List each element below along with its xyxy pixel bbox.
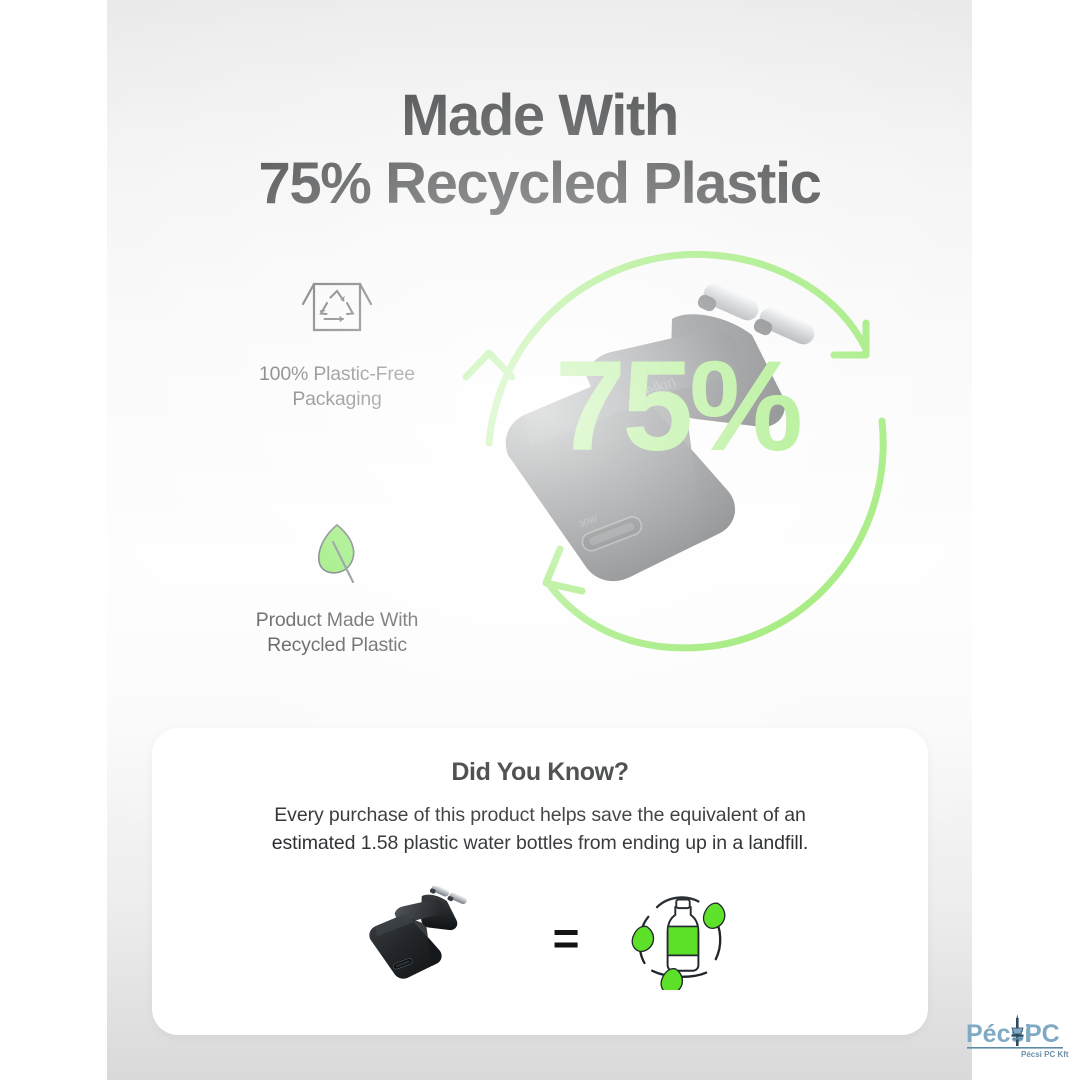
screenshot-root: Made With 75% Recycled Plastic — [0, 0, 1080, 1080]
did-you-know-card: Did You Know? Every purchase of this pro… — [152, 728, 928, 1035]
green-leaf-icon — [192, 516, 482, 594]
recycle-box-icon — [192, 270, 482, 348]
feature-label: 100% Plastic-Free Packaging — [192, 362, 482, 412]
equivalence-equation: = — [152, 878, 928, 998]
feature-item-recycled-plastic-product: Product Made With Recycled Plastic — [192, 516, 482, 658]
title-line-1: Made With — [107, 85, 972, 147]
feature-item-plastic-free-packaging: 100% Plastic-Free Packaging — [192, 270, 482, 412]
pecsipc-logo: Pécsi PC Pécsi PC Kft. — [965, 1012, 1069, 1066]
product-infographic: Made With 75% Recycled Plastic — [107, 0, 972, 1080]
card-body-line-1: Every purchase of this product helps sav… — [274, 804, 805, 826]
card-title: Did You Know? — [152, 758, 928, 787]
recycled-bottle-icon — [625, 886, 741, 990]
feature-label: Product Made With Recycled Plastic — [192, 608, 482, 658]
page-title: Made With 75% Recycled Plastic — [107, 85, 972, 215]
logo-word-2: PC — [1025, 1020, 1060, 1048]
feature-label-line-1: Product Made With — [256, 609, 418, 631]
feature-label-line-2: Recycled Plastic — [267, 634, 407, 656]
percent-overlay-label: 75% — [442, 343, 912, 471]
card-body-text: Every purchase of this product helps sav… — [220, 802, 860, 857]
hero-product-graphic: belkin 30W 75% — [442, 225, 912, 680]
equals-sign: = — [553, 915, 580, 961]
logo-word-1: Pécsi — [966, 1020, 1031, 1048]
feature-label-line-2: Packaging — [292, 388, 381, 410]
feature-list: 100% Plastic-Free Packaging Product Made… — [192, 270, 482, 658]
feature-label-line-1: 100% Plastic-Free — [259, 363, 415, 385]
title-line-2: 75% Recycled Plastic — [107, 153, 972, 215]
wall-charger-small-icon — [339, 886, 507, 990]
card-body-line-2: estimated 1.58 plastic water bottles fro… — [272, 832, 808, 854]
logo-tagline: Pécsi PC Kft. — [1021, 1050, 1069, 1059]
